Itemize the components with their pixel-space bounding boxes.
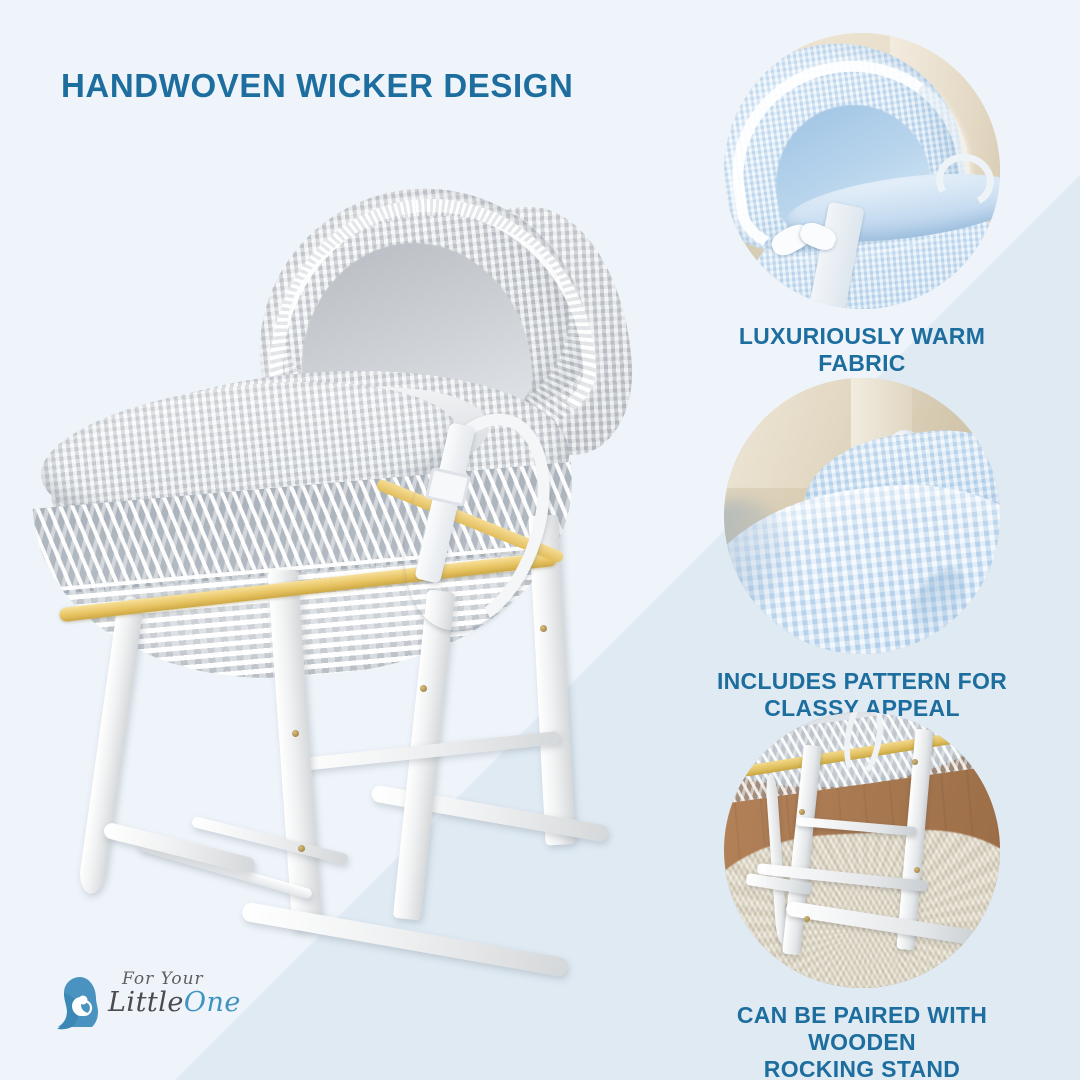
feature-block-1: LUXURIOUSLY WARM FABRIC bbox=[682, 33, 1042, 377]
caption-line: ROCKING STAND bbox=[682, 1056, 1042, 1080]
shag-rug bbox=[724, 825, 1000, 988]
logo-word-little: Little bbox=[108, 987, 184, 1018]
feature-2-image bbox=[724, 378, 1000, 654]
page-title: HANDWOVEN WICKER DESIGN bbox=[61, 68, 573, 104]
screw bbox=[292, 730, 299, 737]
logo-word-one: One bbox=[184, 987, 241, 1018]
ribbon-bow bbox=[768, 221, 851, 293]
mother-and-baby-icon bbox=[50, 971, 112, 1033]
screw bbox=[912, 759, 918, 765]
caption-line: CAN BE PAIRED WITH WOODEN bbox=[682, 1002, 1042, 1056]
infographic-canvas: HANDWOVEN WICKER DESIGN bbox=[0, 0, 1080, 1080]
brand-logo[interactable]: For Your LittleOne bbox=[50, 965, 230, 1045]
feature-3-caption: CAN BE PAIRED WITH WOODEN ROCKING STAND … bbox=[682, 1002, 1042, 1080]
feature-3-image bbox=[724, 712, 1000, 988]
feature-1-image bbox=[724, 33, 1000, 309]
screw bbox=[540, 625, 547, 632]
main-product-image bbox=[40, 185, 640, 985]
caption-line: LUXURIOUSLY WARM bbox=[682, 323, 1042, 350]
feature-block-2: INCLUDES PATTERN FOR CLASSY APPEAL bbox=[682, 378, 1042, 722]
caption-line: FABRIC bbox=[682, 350, 1042, 377]
caption-line: INCLUDES PATTERN FOR bbox=[682, 668, 1042, 695]
logo-line-1: For Your bbox=[122, 969, 204, 989]
screw bbox=[799, 809, 805, 815]
logo-line-2: LittleOne bbox=[108, 987, 241, 1018]
screw bbox=[298, 845, 305, 852]
feature-block-3: CAN BE PAIRED WITH WOODEN ROCKING STAND … bbox=[682, 712, 1042, 1080]
feature-1-caption: LUXURIOUSLY WARM FABRIC bbox=[682, 323, 1042, 377]
screw bbox=[420, 685, 427, 692]
